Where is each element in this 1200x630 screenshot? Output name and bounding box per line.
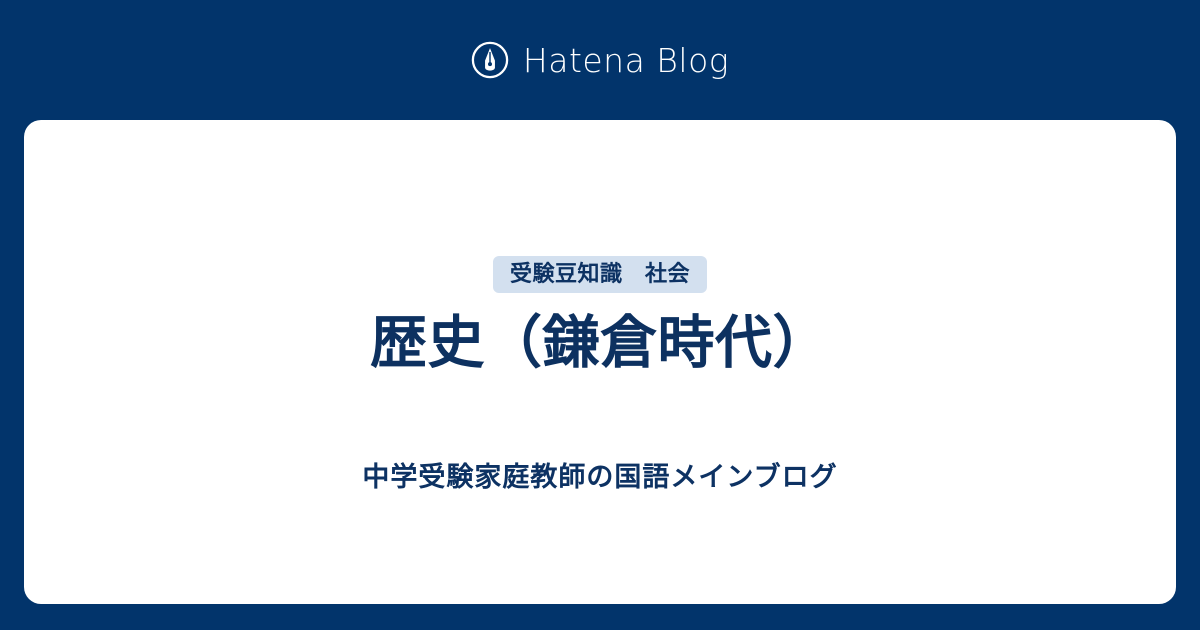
hatena-blog-wordmark: Hatena Blog bbox=[523, 44, 729, 77]
hatena-pen-nib-icon bbox=[471, 41, 509, 79]
hatena-blog-brand-header: Hatena Blog bbox=[0, 0, 1200, 120]
ogp-card-canvas: Hatena Blog 受験豆知識 社会 歴史（鎌倉時代） 中学受験家庭教師の国… bbox=[0, 0, 1200, 630]
blog-name: 中学受験家庭教師の国語メインブログ bbox=[362, 461, 837, 493]
category-badge[interactable]: 受験豆知識 社会 bbox=[493, 256, 707, 293]
entry-title: 歴史（鎌倉時代） bbox=[370, 311, 830, 377]
entry-card: 受験豆知識 社会 歴史（鎌倉時代） 中学受験家庭教師の国語メインブログ bbox=[24, 120, 1176, 604]
entry-card-content: 受験豆知識 社会 歴史（鎌倉時代） 中学受験家庭教師の国語メインブログ bbox=[24, 120, 1176, 493]
